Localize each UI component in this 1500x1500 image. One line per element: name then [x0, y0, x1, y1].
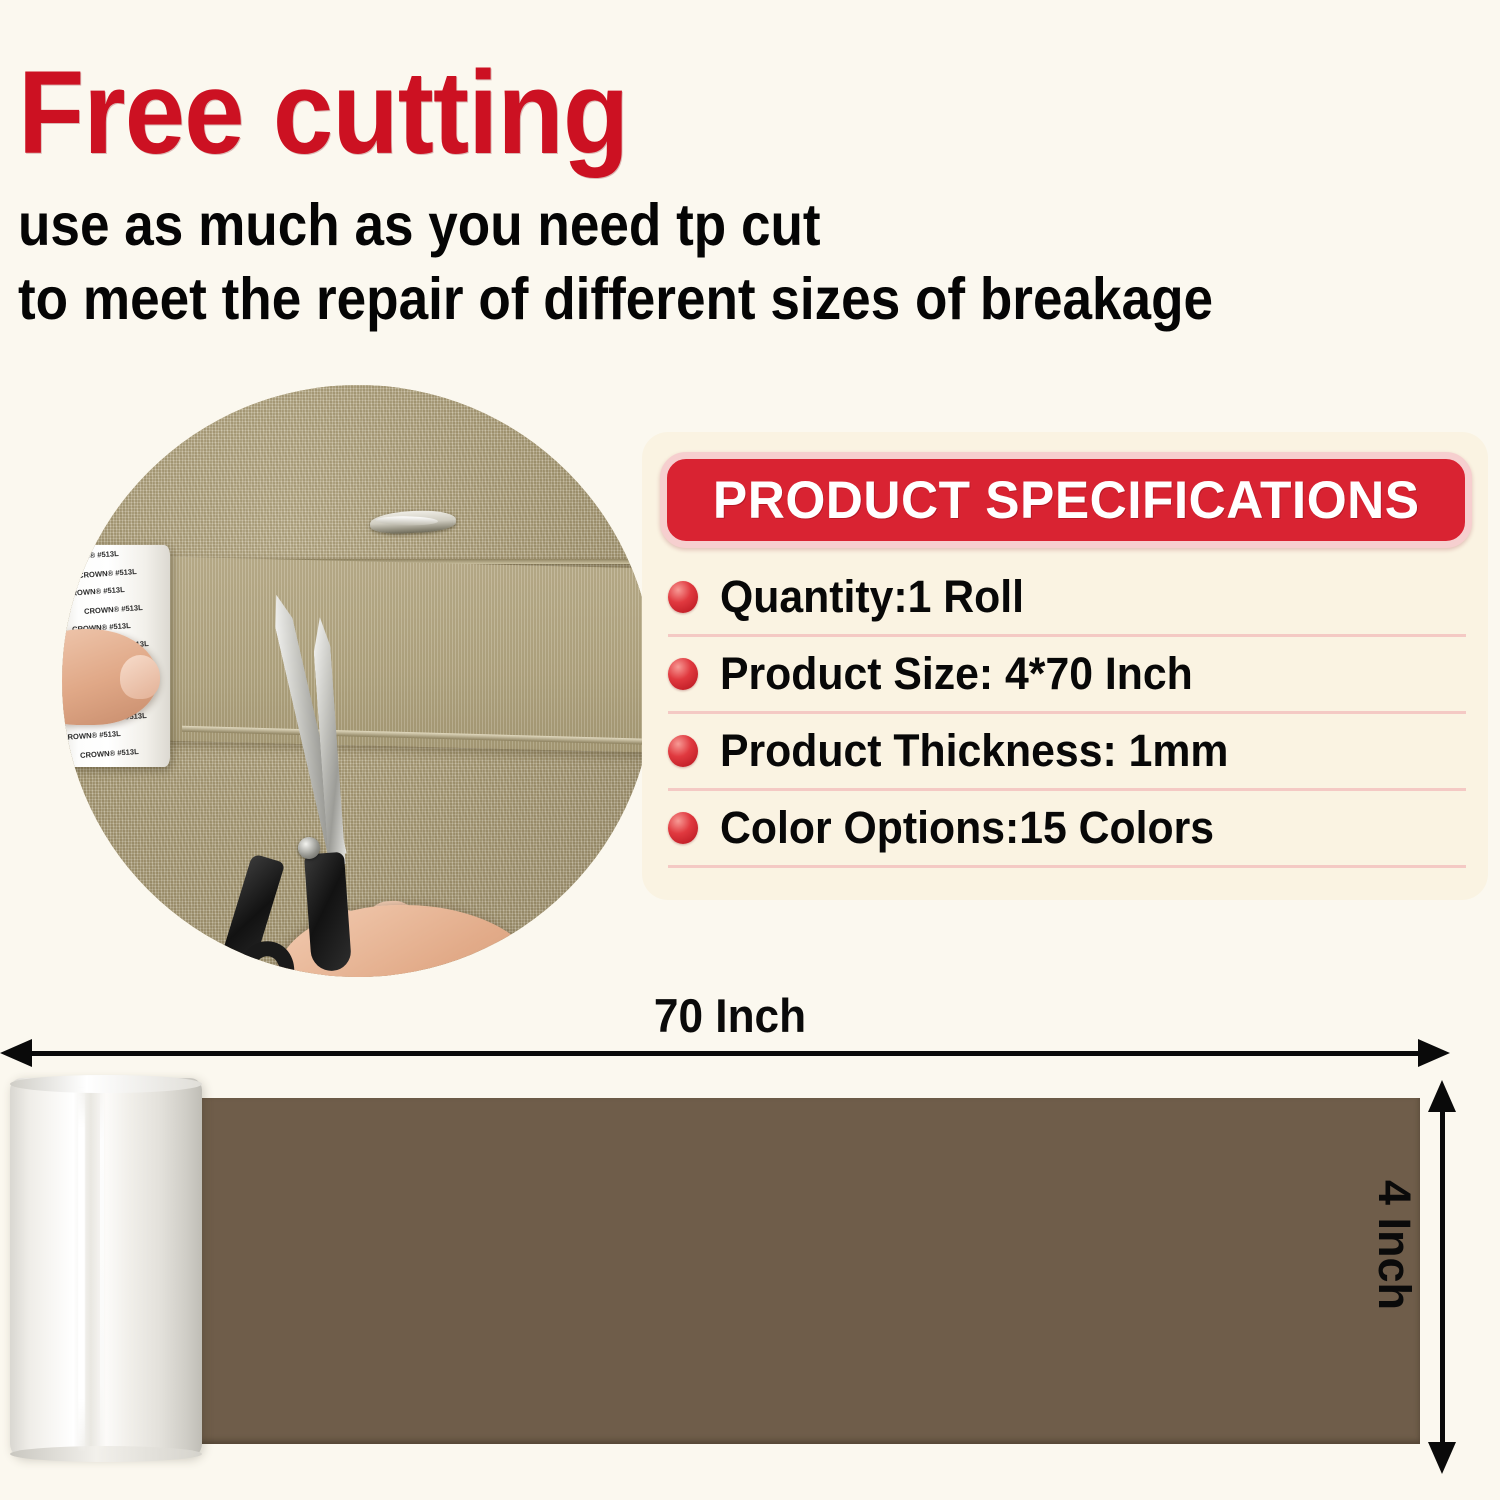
bullet-icon — [668, 812, 698, 844]
roll-brand-label: CROWN® #513L — [62, 549, 119, 562]
product-usage-photo: CROWN® #513LCROWN® #513LCROWN® #513LCROW… — [62, 385, 654, 977]
specifications-badge-label: PRODUCT SPECIFICATIONS — [713, 470, 1420, 531]
product-roll-cylinder — [10, 1078, 202, 1458]
spec-value-size: Product Size: 4*70 Inch — [720, 648, 1193, 700]
specifications-badge: PRODUCT SPECIFICATIONS — [660, 452, 1472, 548]
roll-brand-label: CROWN® #513L — [84, 603, 143, 616]
scissors-pivot-screw — [298, 837, 320, 859]
scissors-handle-right — [304, 852, 352, 973]
spec-value-quantity: Quantity:1 Roll — [720, 571, 1024, 623]
product-specifications-panel: PRODUCT SPECIFICATIONS Quantity:1 Roll P… — [642, 432, 1488, 900]
specifications-list: Quantity:1 Roll Product Size: 4*70 Inch … — [668, 560, 1466, 868]
fabric-flap — [158, 556, 654, 753]
page-title: Free cutting — [18, 52, 1370, 176]
width-dimension-label: 4 Inch — [1368, 1180, 1420, 1380]
length-dimension-label: 70 Inch — [44, 988, 1416, 1043]
bullet-icon — [668, 735, 698, 767]
roll-highlight — [78, 1084, 85, 1454]
spec-row-quantity: Quantity:1 Roll — [668, 560, 1466, 637]
spec-row-colors: Color Options:15 Colors — [668, 791, 1466, 868]
spec-row-size: Product Size: 4*70 Inch — [668, 637, 1466, 714]
bullet-icon — [668, 658, 698, 690]
subtitle-line-2: to meet the repair of different sizes of… — [18, 264, 1341, 336]
roll-brand-label: CROWN® #513L — [66, 585, 125, 598]
length-dimension-arrow — [30, 1051, 1420, 1056]
spec-row-thickness: Product Thickness: 1mm — [668, 714, 1466, 791]
spec-value-colors: Color Options:15 Colors — [720, 802, 1214, 854]
header-block: Free cutting use as much as you need tp … — [18, 52, 1488, 336]
thumb-tip — [120, 655, 160, 699]
spec-value-thickness: Product Thickness: 1mm — [720, 725, 1228, 777]
roll-brand-label: CROWN® #513L — [62, 729, 121, 742]
bullet-icon — [668, 581, 698, 613]
width-dimension-arrow — [1440, 1110, 1445, 1444]
roll-brand-label: CROWN® #513L — [80, 747, 139, 760]
roll-highlight-secondary — [100, 1086, 104, 1452]
fabric-strip-sample — [198, 1098, 1420, 1444]
roll-brand-label: CROWN® #513L — [78, 567, 137, 580]
subtitle-line-1: use as much as you need tp cut — [18, 190, 1341, 262]
